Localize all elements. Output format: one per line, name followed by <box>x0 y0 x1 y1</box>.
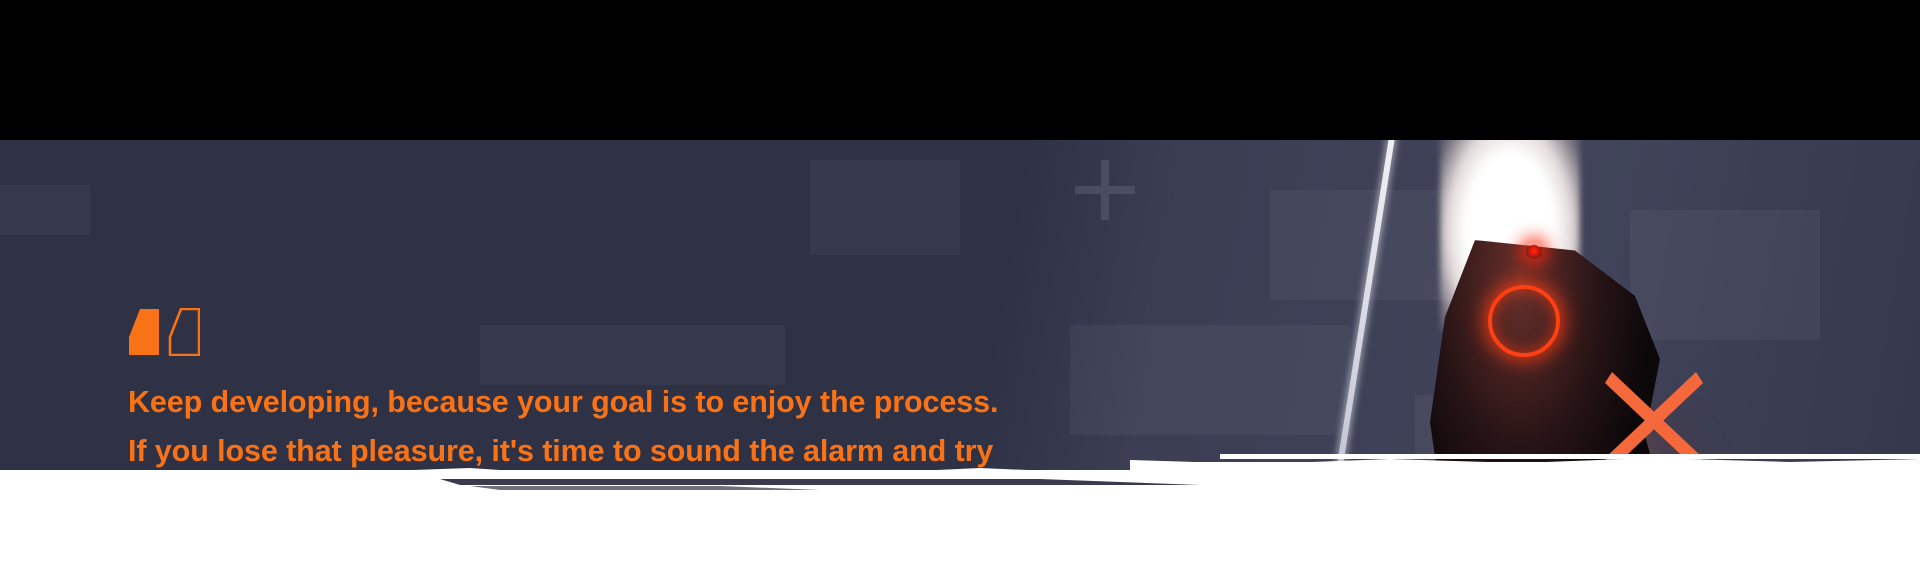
decor-rectangle <box>0 185 90 235</box>
top-black-band <box>0 0 1920 140</box>
brush-stroke-edge <box>0 470 1920 565</box>
quote-open-icon <box>128 308 200 356</box>
plus-icon <box>1075 160 1135 220</box>
decor-rectangle <box>810 160 960 255</box>
brush-edge-shape <box>0 448 1920 518</box>
glowing-red-eye-icon <box>1526 243 1542 259</box>
glowing-red-ring-icon <box>1488 285 1560 357</box>
quote-banner: Keep developing, because your goal is to… <box>0 0 1920 565</box>
quote-panel: Keep developing, because your goal is to… <box>0 140 1920 485</box>
